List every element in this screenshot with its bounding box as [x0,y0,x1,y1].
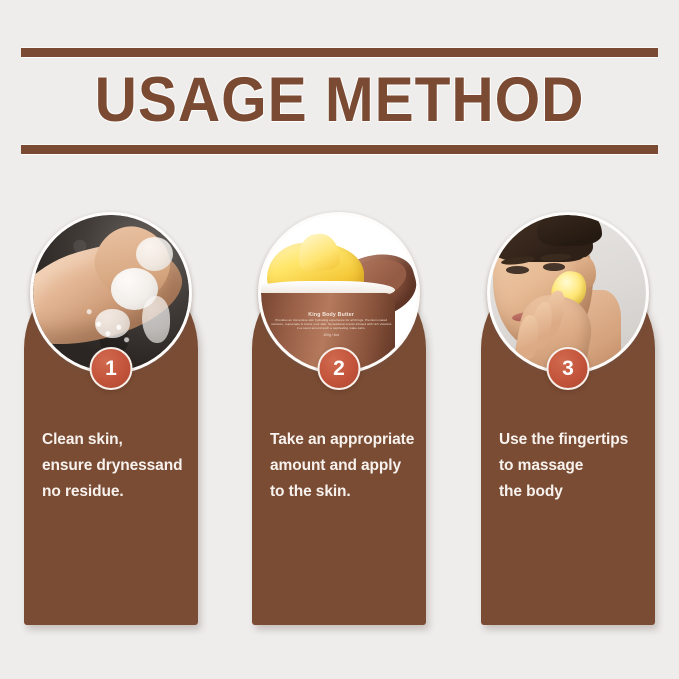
caption-line: ensure drynessand [42,453,190,479]
step-card-1: 1 Clean skin, ensure drynessand no resid… [24,205,198,630]
step-card-3: 3 Use the fingertips to massage the body [481,205,655,630]
title-rule-bottom [21,145,658,154]
step-number-badge-1: 1 [90,347,133,390]
header-banner: USAGE METHOD [0,0,679,185]
step-number-badge-2: 2 [318,347,361,390]
caption-line: to the skin. [270,479,418,505]
caption-line: Clean skin, [42,427,190,453]
page-title: USAGE METHOD [24,58,655,142]
caption-line: Take an appropriate [270,427,418,453]
caption-line: the body [499,479,647,505]
title-rule-top [21,48,658,57]
caption-line: to massage [499,453,647,479]
hair-shape-back [537,215,603,246]
caption-line: Use the fingertips [499,427,647,453]
steps-row: 1 Clean skin, ensure drynessand no resid… [0,205,679,635]
caption-line: no residue. [42,479,190,505]
caption-line: amount and apply [270,453,418,479]
step-number-badge-3: 3 [547,347,590,390]
step-caption-1: Clean skin, ensure drynessand no residue… [42,427,190,505]
step-caption-2: Take an appropriate amount and apply to … [270,427,418,505]
step-caption-3: Use the fingertips to massage the body [499,427,647,505]
step-card-2: King Body Butter Provides an immersive s… [252,205,426,630]
